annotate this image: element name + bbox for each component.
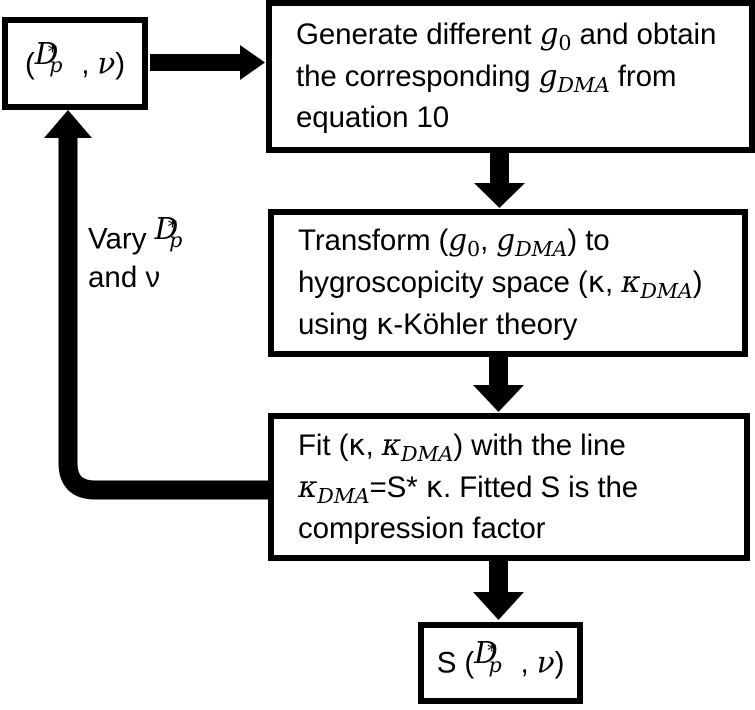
- transform-comma-2: ,: [605, 266, 621, 299]
- node-transform-step[interactable]: Transform (g0, gDMA) to hygroscopicity s…: [268, 209, 748, 357]
- arrow-fit-to-output: [473, 560, 524, 620]
- g-zero-subscript: 0: [467, 237, 480, 261]
- kappa-symbol-2: κ: [426, 470, 443, 504]
- dp-star-symbol: D*p: [155, 219, 193, 249]
- transform-text-d: -Köhler theory: [393, 308, 577, 341]
- kappa-symbol: κ: [348, 428, 365, 462]
- node-input-parameters[interactable]: (D*p , ν): [2, 17, 148, 110]
- paren-close: ): [555, 647, 565, 680]
- kappa-kohler-symbol: κ: [376, 307, 393, 341]
- g-dma-subscript: DMA: [515, 237, 567, 261]
- kappa-dma-variable: κ: [621, 265, 640, 299]
- fit-text-b: ) with the line: [453, 429, 625, 462]
- loop-vary-text: Vary: [88, 223, 155, 256]
- fit-comma-1: ,: [366, 429, 382, 462]
- kappa-dma-subscript: DMA: [640, 280, 692, 304]
- node-output-result[interactable]: S (D*p , ν): [418, 622, 583, 704]
- node-output-text: S (D*p , ν): [436, 643, 565, 683]
- arrow-fit-to-input-feedback: [44, 110, 268, 490]
- paren-close: ): [115, 47, 125, 80]
- g-zero-variable: g: [448, 223, 467, 257]
- loop-label: Vary D*p and ν: [88, 219, 248, 298]
- p-subscript: p: [489, 652, 502, 679]
- paren-open: (: [25, 47, 35, 80]
- kappa-dma-subscript: DMA: [401, 442, 453, 466]
- transform-comma-1: ,: [480, 224, 496, 257]
- node-transform-text: Transform (g0, gDMA) to hygroscopicity s…: [286, 221, 730, 344]
- node-generate-text: Generate different g0 and obtain the cor…: [284, 15, 737, 137]
- dp-star-symbol: D*p: [35, 44, 73, 74]
- fit-text-a: Fit (: [298, 429, 348, 462]
- node-fit-step[interactable]: Fit (κ, κDMA) with the line κDMA=S* κ. F…: [268, 413, 750, 561]
- transform-text-a: Transform (: [298, 224, 448, 257]
- nu-variable: ν: [97, 46, 115, 80]
- loop-label-line1: Vary D*p: [88, 219, 248, 259]
- kappa-dma-subscript-2: DMA: [317, 484, 369, 508]
- g-dma-variable: g: [496, 223, 515, 257]
- arrow-transform-to-fit: [473, 356, 524, 412]
- nu-variable: ν: [537, 646, 555, 680]
- flowchart-canvas: (D*p , ν) Generate different g0 and obta…: [0, 0, 755, 710]
- g-dma-subscript: DMA: [557, 74, 609, 98]
- output-prefix: S (: [437, 647, 474, 680]
- arrow-input-to-generate: [150, 45, 265, 80]
- dp-star-symbol: D*p: [474, 643, 512, 673]
- comma-separator: ,: [73, 47, 97, 80]
- loop-label-line2: and ν: [88, 259, 248, 298]
- comma-separator: ,: [512, 647, 536, 680]
- g-variable: g: [540, 17, 559, 51]
- kappa-dma-variable: κ: [382, 428, 401, 462]
- kappa-symbol: κ: [588, 265, 605, 299]
- p-subscript: p: [169, 227, 182, 254]
- g-dma-variable: g: [539, 59, 558, 93]
- g-zero-subscript: 0: [558, 31, 571, 55]
- generate-text-a: Generate different: [296, 18, 540, 51]
- fit-equation-rhs: =S*: [370, 471, 426, 504]
- kappa-dma-variable-2: κ: [298, 470, 317, 504]
- p-subscript: p: [49, 52, 62, 79]
- node-input-text: (D*p , ν): [20, 44, 130, 84]
- arrow-generate-to-transform: [474, 152, 525, 208]
- node-generate-step[interactable]: Generate different g0 and obtain the cor…: [266, 0, 755, 153]
- node-fit-text: Fit (κ, κDMA) with the line κDMA=S* κ. F…: [286, 426, 732, 548]
